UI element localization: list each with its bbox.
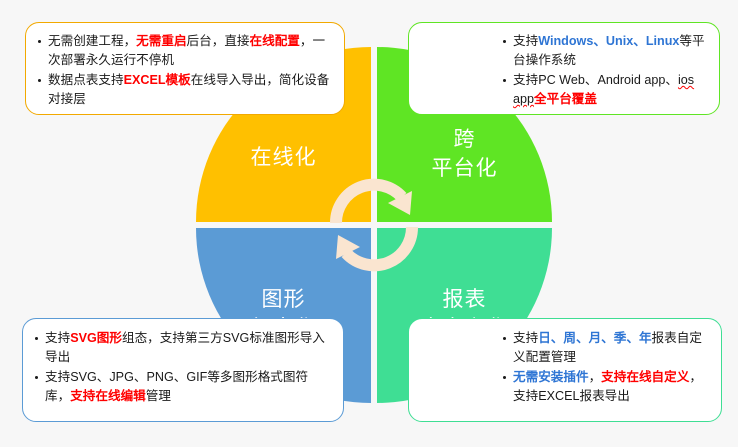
text-segment-highlight: 在线配置: [250, 34, 300, 48]
diagram-stage: 在线化 跨 平台化 图形 组态化 报表 自定义化 无需创建工程，: [0, 0, 738, 447]
callout-cross-platform-list: 支持Windows、Unix、Linux等平台操作系统 支持PC Web、And…: [501, 32, 707, 109]
list-item: 无需安装插件，支持在线自定义，支持EXCEL报表导出: [501, 368, 709, 406]
text-segment-highlight: 无需重启: [136, 34, 186, 48]
text-segment: 无需创建工程，: [48, 34, 136, 48]
text-segment: 数据点表支持: [48, 73, 124, 87]
callout-online-list: 无需创建工程，无需重启后台，直接在线配置，一次部署永久运行不停机 数据点表支持E…: [36, 32, 330, 109]
list-item: 支持Windows、Unix、Linux等平台操作系统: [501, 32, 707, 70]
text-segment-highlight: 支持在线编辑: [70, 389, 146, 403]
text-segment-highlight: SVG图形: [70, 331, 122, 345]
text-segment-highlight: Windows、Unix、Linux: [538, 34, 679, 48]
text-segment: 支持PC Web、Android app、: [513, 73, 678, 87]
text-segment-highlight: 全平台覆盖: [534, 92, 597, 106]
text-segment: 后台，直接: [187, 34, 250, 48]
callout-online-body: 无需创建工程，无需重启后台，直接在线配置，一次部署永久运行不停机 数据点表支持E…: [26, 23, 344, 109]
text-segment: 管理: [146, 389, 171, 403]
callout-online: 无需创建工程，无需重启后台，直接在线配置，一次部署永久运行不停机 数据点表支持E…: [25, 22, 345, 115]
list-item: 支持PC Web、Android app、ios app全平台覆盖: [501, 71, 707, 109]
callout-graphics-list: 支持SVG图形组态，支持第三方SVG标准图形导入导出 支持SVG、JPG、PNG…: [33, 329, 329, 406]
callout-graphics: 支持SVG图形组态，支持第三方SVG标准图形导入导出 支持SVG、JPG、PNG…: [22, 318, 344, 422]
list-item: 数据点表支持EXCEL模板在线导入导出，简化设备对接层: [36, 71, 330, 109]
text-segment: ，: [589, 370, 602, 384]
text-segment-highlight: EXCEL模板: [124, 73, 191, 87]
text-segment: 支持: [513, 34, 538, 48]
callout-cross-platform: 支持Windows、Unix、Linux等平台操作系统 支持PC Web、And…: [408, 22, 720, 115]
text-segment-highlight: 支持在线自定义: [601, 370, 689, 384]
text-segment: 支持: [513, 331, 538, 345]
list-item: 支持SVG、JPG、PNG、GIF等多图形格式图符库，支持在线编辑管理: [33, 368, 329, 406]
callout-report-body: 支持日、周、月、季、年报表自定义配置管理 无需安装插件，支持在线自定义，支持EX…: [409, 319, 721, 406]
list-item: 支持日、周、月、季、年报表自定义配置管理: [501, 329, 709, 367]
list-item: 支持SVG图形组态，支持第三方SVG标准图形导入导出: [33, 329, 329, 367]
text-segment: 支持: [45, 331, 70, 345]
text-segment-highlight: 无需安装插件: [513, 370, 589, 384]
text-segment-highlight: 日、周、月、季、年: [538, 331, 651, 345]
callout-report-list: 支持日、周、月、季、年报表自定义配置管理 无需安装插件，支持在线自定义，支持EX…: [501, 329, 709, 406]
callout-report: 支持日、周、月、季、年报表自定义配置管理 无需安装插件，支持在线自定义，支持EX…: [408, 318, 722, 422]
callout-graphics-body: 支持SVG图形组态，支持第三方SVG标准图形导入导出 支持SVG、JPG、PNG…: [23, 319, 343, 406]
list-item: 无需创建工程，无需重启后台，直接在线配置，一次部署永久运行不停机: [36, 32, 330, 70]
callout-cross-platform-body: 支持Windows、Unix、Linux等平台操作系统 支持PC Web、And…: [409, 23, 719, 109]
